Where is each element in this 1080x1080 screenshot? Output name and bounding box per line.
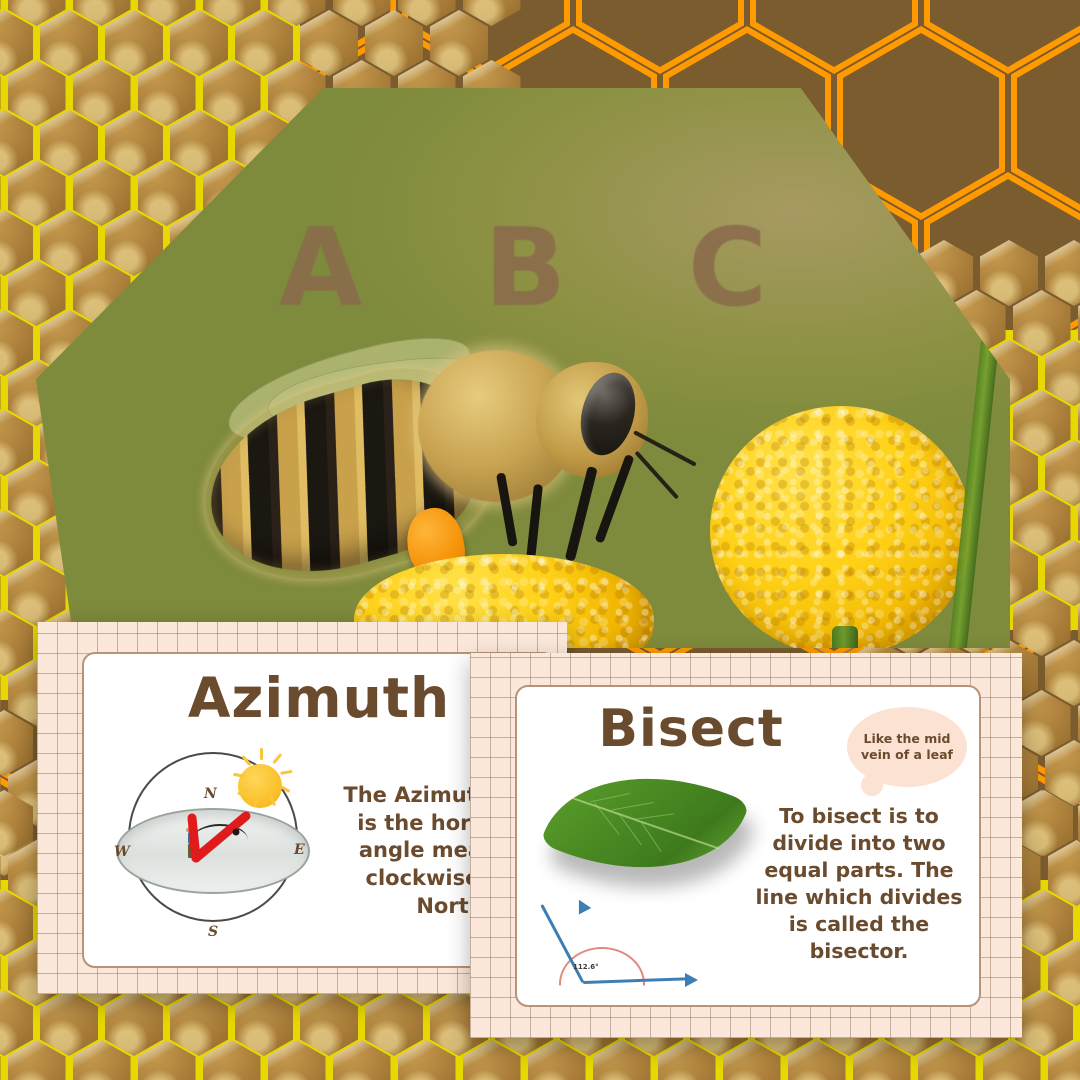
sun-icon <box>238 764 282 808</box>
honeycomb-cell <box>1013 590 1071 656</box>
leaf-side-vein <box>611 802 654 810</box>
honeycomb-cell <box>73 160 131 226</box>
honeycomb-cell <box>40 10 98 76</box>
honeycomb-cell <box>300 10 358 76</box>
honeycomb-cell <box>170 10 228 76</box>
arrow-head-right <box>685 973 698 987</box>
honeycomb-cell <box>1015 990 1073 1056</box>
honeycomb-cell <box>1015 890 1073 956</box>
leaf-side-vein <box>635 813 674 820</box>
honeycomb-cell <box>300 990 358 1056</box>
compass-label-west: W <box>114 844 130 860</box>
leaf-side-vein <box>591 793 630 802</box>
honeycomb-cell <box>1015 790 1073 856</box>
honeycomb-cell <box>40 110 98 176</box>
angle-arc <box>559 947 645 1007</box>
yellow-flower-right <box>710 406 972 648</box>
azimuth-angle-marker <box>112 746 312 946</box>
honeycomb-cell <box>40 990 98 1056</box>
honeycomb-cell <box>170 990 228 1056</box>
honeycomb-cell <box>235 990 293 1056</box>
honeycomb-cell <box>105 10 163 76</box>
honeycomb-cell <box>235 10 293 76</box>
sun-ray <box>260 748 263 760</box>
honeycomb-cell <box>40 210 98 276</box>
bisect-title: Bisect <box>531 699 851 759</box>
bisect-card-inner: Bisect Like the mid vein of a leaf 112 <box>515 685 981 1007</box>
compass-label-south: S <box>208 924 218 940</box>
honeycomb-cell <box>138 60 196 126</box>
compass-label-north: N <box>204 786 217 802</box>
honeycomb-cell <box>980 240 1038 306</box>
honeycomb-cell <box>138 160 196 226</box>
compass-label-east: E <box>294 842 305 858</box>
bisected-angle-diagram: 112.6° <box>545 901 725 993</box>
bisect-definition-text: To bisect is to divide into two equal pa… <box>745 803 973 965</box>
honeycomb-cell <box>1013 490 1071 556</box>
poster-canvas: A B C Azimuth <box>0 0 1080 1080</box>
honeycomb-cell <box>8 560 66 626</box>
arrow-head-up <box>573 896 591 914</box>
honeycomb-cell <box>8 260 66 326</box>
honeycomb-cell <box>8 60 66 126</box>
honeycomb-cell <box>105 990 163 1056</box>
flower-texture <box>710 406 972 648</box>
honeycomb-cell <box>8 160 66 226</box>
honeycomb-cell <box>170 110 228 176</box>
callout-speech-bubble: Like the mid vein of a leaf <box>847 707 967 787</box>
honeycomb-cell <box>1013 290 1071 356</box>
leaf-illustration <box>540 736 750 911</box>
callout-text: Like the mid vein of a leaf <box>847 731 967 764</box>
honeycomb-cell <box>1013 390 1071 456</box>
bee-leg <box>565 466 598 562</box>
celestial-sphere-diagram: N E S W <box>112 746 312 946</box>
flower-stem-right <box>832 626 858 648</box>
honeycomb-cell <box>203 60 261 126</box>
angle-value-label: 112.6° <box>573 963 599 971</box>
honeycomb-cell <box>365 990 423 1056</box>
honeycomb-cell <box>73 60 131 126</box>
bisect-definition-card[interactable]: Bisect Like the mid vein of a leaf 112 <box>470 653 1022 1038</box>
honeycomb-cell <box>105 110 163 176</box>
